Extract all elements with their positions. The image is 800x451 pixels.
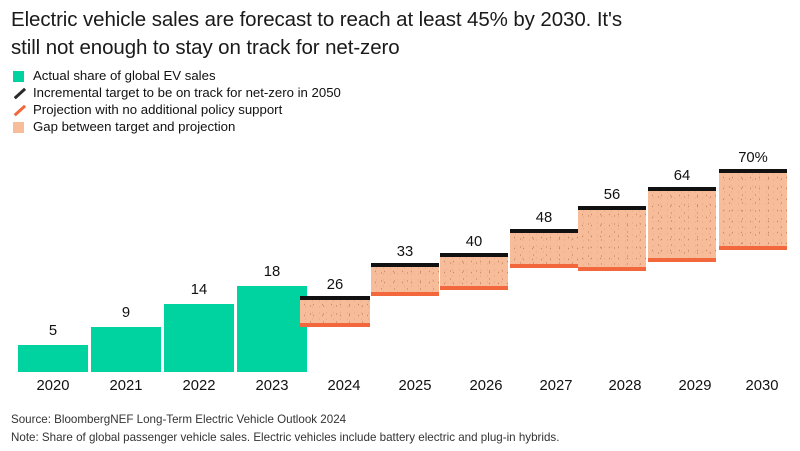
bar-actual-2022[interactable] bbox=[164, 304, 234, 372]
target-cap-2030 bbox=[719, 169, 787, 173]
bar-value-label-2030: 70% bbox=[719, 150, 787, 166]
bar-gap-2027[interactable] bbox=[510, 232, 578, 264]
target-cap-2027 bbox=[510, 229, 578, 233]
bar-value-label-2020: 5 bbox=[18, 323, 88, 339]
x-axis-tick-2024: 2024 bbox=[304, 377, 384, 395]
bar-actual-2020[interactable] bbox=[18, 345, 88, 372]
note-text: Note: Share of global passenger vehicle … bbox=[11, 429, 791, 447]
projection-cap-2024 bbox=[300, 323, 370, 327]
target-cap-2026 bbox=[440, 253, 508, 257]
x-axis-tick-2025: 2025 bbox=[375, 377, 455, 395]
bar-gap-2026[interactable] bbox=[440, 256, 508, 286]
target-cap-2024 bbox=[300, 296, 370, 300]
x-axis-tick-2028: 2028 bbox=[585, 377, 665, 395]
target-cap-2025 bbox=[371, 263, 439, 267]
x-axis-tick-2026: 2026 bbox=[446, 377, 526, 395]
bar-gap-2028[interactable] bbox=[578, 209, 646, 267]
bar-actual-2023[interactable] bbox=[237, 286, 307, 372]
x-axis-tick-2020: 2020 bbox=[13, 377, 93, 395]
projection-cap-2029 bbox=[648, 258, 716, 262]
target-cap-2029 bbox=[648, 187, 716, 191]
source-text: Source: BloombergNEF Long-Term Electric … bbox=[11, 411, 791, 429]
x-axis-tick-2022: 2022 bbox=[159, 377, 239, 395]
projection-cap-2027 bbox=[510, 264, 578, 268]
chart-plot-area: 59141826334048566470%2020202120222023202… bbox=[0, 0, 800, 451]
bar-gap-2029[interactable] bbox=[648, 190, 716, 258]
bar-value-label-2029: 64 bbox=[648, 168, 716, 184]
x-axis-tick-2021: 2021 bbox=[86, 377, 166, 395]
bar-gap-2025[interactable] bbox=[371, 266, 439, 292]
x-axis-tick-2027: 2027 bbox=[516, 377, 596, 395]
bar-value-label-2021: 9 bbox=[91, 305, 161, 321]
bar-value-label-2025: 33 bbox=[371, 244, 439, 260]
bar-actual-2021[interactable] bbox=[91, 327, 161, 372]
bar-value-label-2024: 26 bbox=[300, 277, 370, 293]
bar-value-label-2026: 40 bbox=[440, 234, 508, 250]
x-axis-tick-2023: 2023 bbox=[232, 377, 312, 395]
projection-cap-2028 bbox=[578, 267, 646, 271]
projection-cap-2025 bbox=[371, 292, 439, 296]
target-cap-2028 bbox=[578, 206, 646, 210]
chart-footer: Source: BloombergNEF Long-Term Electric … bbox=[11, 411, 791, 447]
bar-gap-2030[interactable] bbox=[719, 172, 787, 246]
projection-cap-2030 bbox=[719, 246, 787, 250]
bar-value-label-2027: 48 bbox=[510, 210, 578, 226]
bar-value-label-2023: 18 bbox=[237, 264, 307, 280]
bar-gap-2024[interactable] bbox=[300, 299, 370, 323]
projection-cap-2026 bbox=[440, 286, 508, 290]
x-axis-tick-2030: 2030 bbox=[722, 377, 800, 395]
bar-value-label-2028: 56 bbox=[578, 187, 646, 203]
bar-value-label-2022: 14 bbox=[164, 282, 234, 298]
